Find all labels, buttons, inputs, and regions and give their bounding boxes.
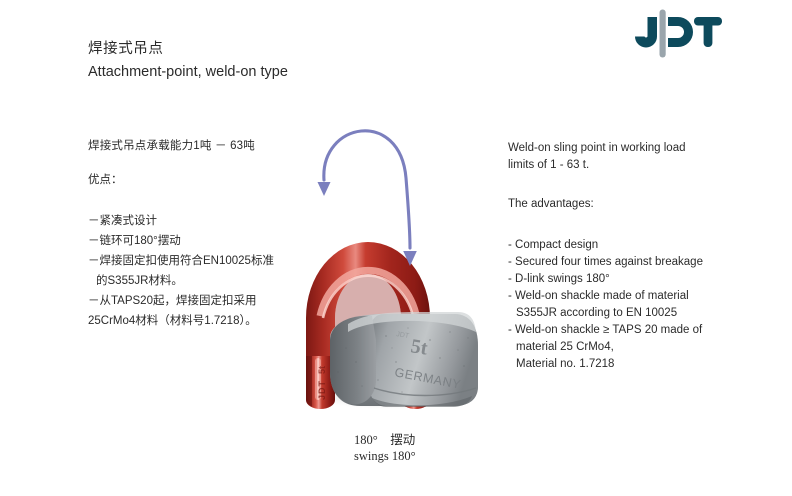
list-item: - Weld-on shackle made of material <box>508 288 723 305</box>
specs-column-english: Weld-on sling point in working load limi… <box>508 140 723 373</box>
list-item: - Compact design <box>508 237 723 254</box>
logo-letter-d <box>668 17 693 47</box>
arrow-head-left <box>318 182 331 196</box>
page-title: 焊接式吊点 Attachment-point, weld-on type <box>88 39 448 83</box>
logo-letter-j <box>632 17 657 48</box>
list-item: Material no. 1.7218 <box>508 356 723 373</box>
caption-line-cn: 180° 摆动 <box>354 432 416 448</box>
list-item: - D-link swings 180° <box>508 271 723 288</box>
jdt-logo <box>632 8 724 60</box>
advantages-label-en: The advantages: <box>508 196 723 213</box>
logo-letter-t <box>694 17 722 47</box>
list-item: - Weld-on shackle ≥ TAPS 20 made of <box>508 322 723 339</box>
weld-on-attachment-point-photo: JDT 5t 5t <box>268 100 518 420</box>
emboss-rating-left: 5t <box>317 366 327 374</box>
emboss-brand-left: JDT <box>317 380 327 400</box>
load-range-en-line1: Weld-on sling point in working load <box>508 140 723 157</box>
page-title-en: Attachment-point, weld-on type <box>88 62 448 83</box>
load-range-en-line2: limits of 1 - 63 t. <box>508 157 723 174</box>
caption-line-en: swings 180° <box>354 448 416 464</box>
list-item: S355JR according to EN 10025 <box>508 305 723 322</box>
jdt-logo-mark <box>632 8 724 60</box>
advantages-list-en: - Compact design - Secured four times ag… <box>508 237 723 373</box>
shackle-gray-body: 5t GERMANY JDT <box>330 312 478 407</box>
page-title-cn: 焊接式吊点 <box>88 39 448 59</box>
dlink-left-emboss: JDT 5t <box>317 366 327 400</box>
image-caption: 180° 摆动 swings 180° <box>354 432 416 464</box>
list-item: material 25 CrMo4, <box>508 339 723 356</box>
list-item: - Secured four times against breakage <box>508 254 723 271</box>
product-illustration: JDT 5t 5t <box>268 100 518 420</box>
logo-vertical-bar <box>660 10 666 58</box>
